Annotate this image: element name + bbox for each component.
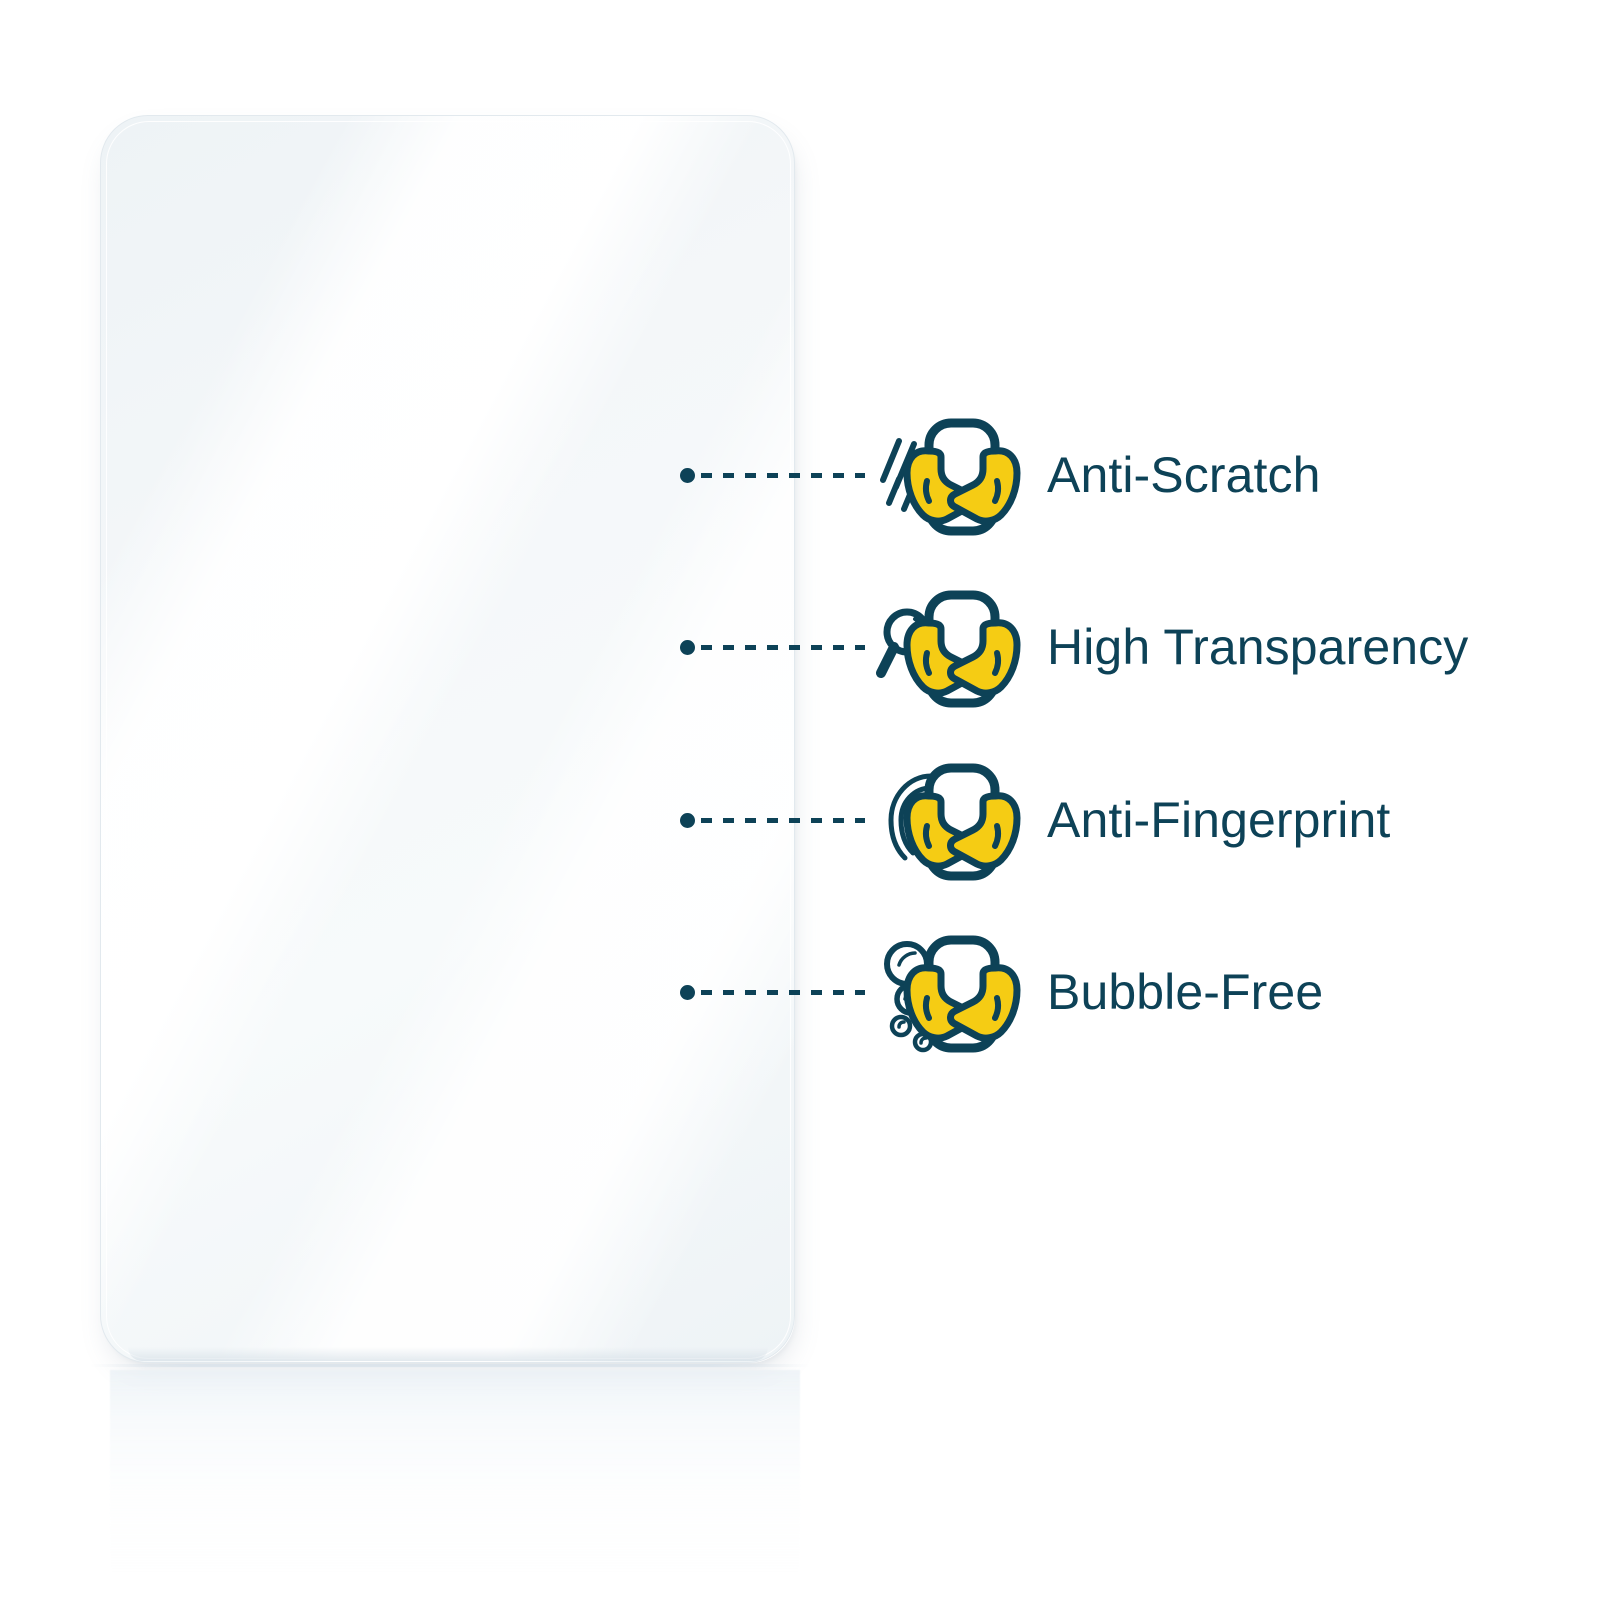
callout-leader: [680, 813, 865, 828]
callout-dot-icon: [680, 640, 695, 655]
feature-row-anti-fingerprint: Anti-Fingerprint: [680, 745, 1390, 895]
callout-leader: [680, 640, 865, 655]
feature-row-anti-scratch: Anti-Scratch: [680, 400, 1321, 550]
callout-dot-icon: [680, 813, 695, 828]
callout-dotted-line: [701, 818, 865, 823]
bubbles-phone-hands-icon: [865, 922, 1025, 1062]
fingerprint-phone-hands-icon: [865, 750, 1025, 890]
feature-label: High Transparency: [1047, 618, 1468, 676]
callout-leader: [680, 985, 865, 1000]
feature-row-bubble-free: Bubble-Free: [680, 917, 1323, 1067]
feature-label: Anti-Scratch: [1047, 446, 1321, 504]
infographic-stage: Anti-Scratch: [0, 0, 1600, 1600]
feature-label: Bubble-Free: [1047, 963, 1323, 1021]
feature-label: Anti-Fingerprint: [1047, 791, 1390, 849]
feature-list: Anti-Scratch: [0, 0, 1600, 1600]
callout-dot-icon: [680, 468, 695, 483]
callout-dot-icon: [680, 985, 695, 1000]
magnifier-phone-hands-icon: [865, 577, 1025, 717]
feature-row-high-transparency: High Transparency: [680, 572, 1468, 722]
callout-dotted-line: [701, 990, 865, 995]
callout-leader: [680, 468, 865, 483]
callout-dotted-line: [701, 473, 865, 478]
callout-dotted-line: [701, 645, 865, 650]
scratch-lines-phone-hands-icon: [865, 405, 1025, 545]
